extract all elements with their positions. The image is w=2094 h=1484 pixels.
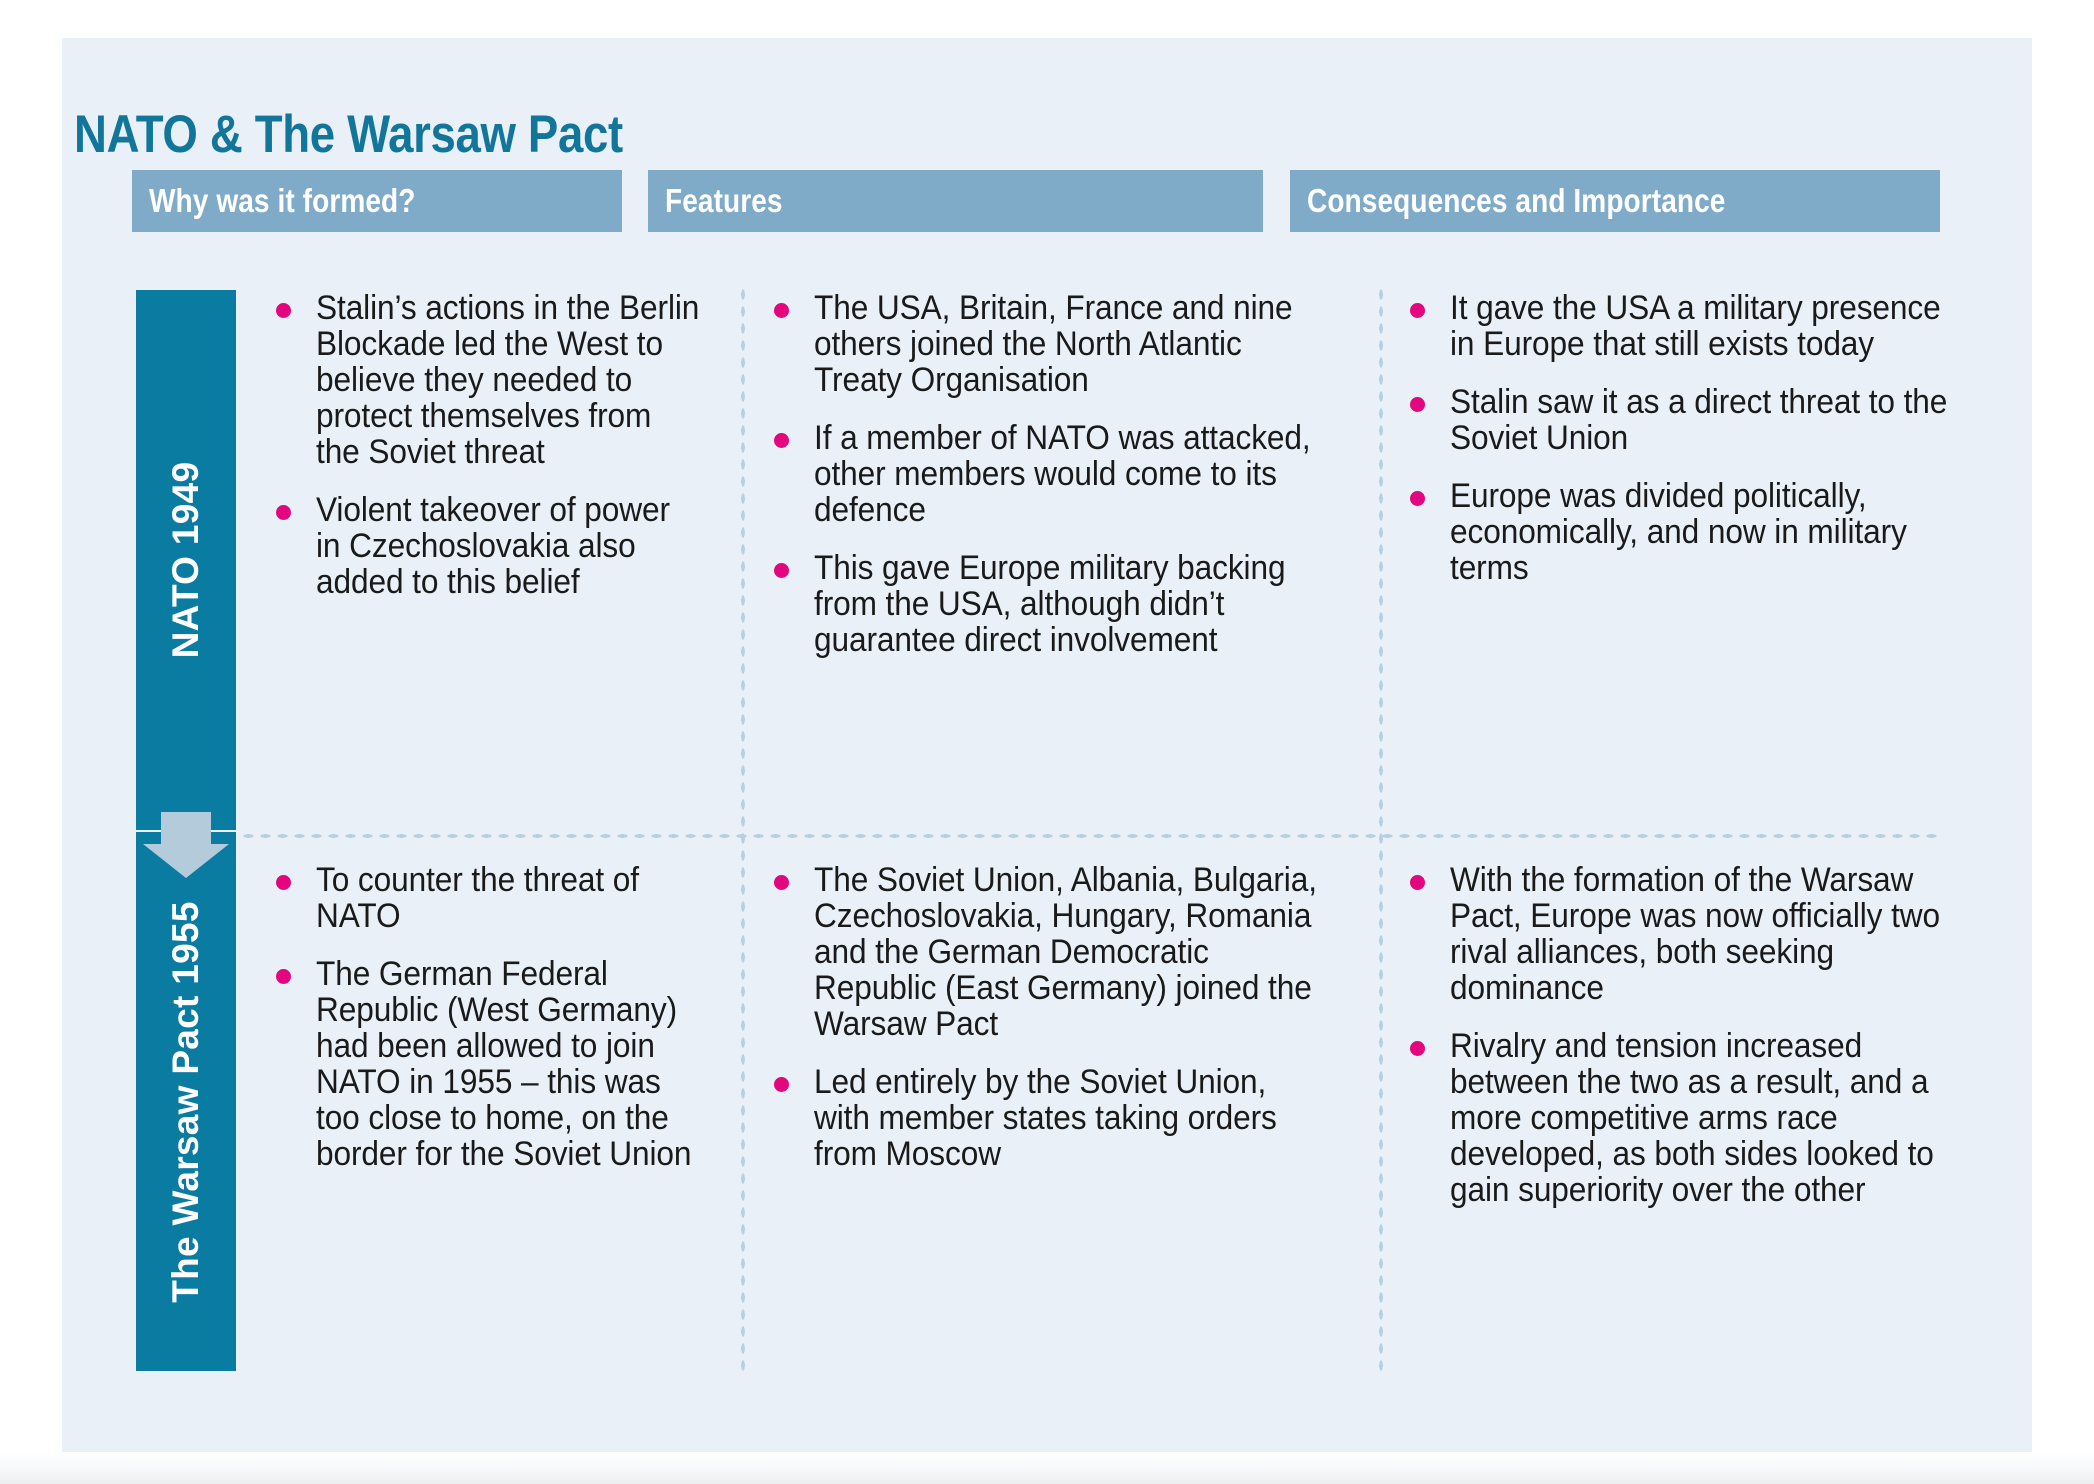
row-label-bar-warsaw-pact: The Warsaw Pact 1955 bbox=[136, 832, 236, 1371]
down-arrow-icon bbox=[136, 812, 236, 878]
bullet-text: To counter the threat of NATO bbox=[316, 862, 702, 934]
list-item: Rivalry and tension increased between th… bbox=[1406, 1028, 1966, 1208]
list-item: Stalin saw it as a direct threat to the … bbox=[1406, 384, 1966, 456]
column-header-label: Why was it formed? bbox=[132, 182, 415, 220]
bullet-text: Led entirely by the Soviet Union, with m… bbox=[814, 1064, 1330, 1172]
bullet-text: The German Federal Republic (West German… bbox=[316, 956, 702, 1172]
list-item: With the formation of the Warsaw Pact, E… bbox=[1406, 862, 1966, 1006]
list-item: Led entirely by the Soviet Union, with m… bbox=[770, 1064, 1330, 1172]
bullet-list: The USA, Britain, France and nine others… bbox=[770, 290, 1330, 658]
column-divider bbox=[740, 286, 746, 1371]
list-item: The German Federal Republic (West German… bbox=[272, 956, 702, 1172]
cell-nato-features: The USA, Britain, France and nine others… bbox=[770, 290, 1330, 658]
content-panel bbox=[62, 38, 2032, 1457]
list-item: To counter the threat of NATO bbox=[272, 862, 702, 934]
list-item: The USA, Britain, France and nine others… bbox=[770, 290, 1330, 398]
cell-nato-why-was-it-formed: Stalin’s actions in the Berlin Blockade … bbox=[272, 290, 702, 600]
column-header-consequences-and-importance: Consequences and Importance bbox=[1290, 170, 1940, 232]
column-divider bbox=[1378, 286, 1384, 1371]
column-header-label: Features bbox=[648, 182, 783, 220]
bullet-text: Violent takeover of power in Czechoslova… bbox=[316, 492, 702, 600]
infographic-page: NATO & The Warsaw Pact Why was it formed… bbox=[0, 0, 2094, 1484]
column-header-why-was-it-formed: Why was it formed? bbox=[132, 170, 622, 232]
column-header-features: Features bbox=[648, 170, 1263, 232]
bullet-text: With the formation of the Warsaw Pact, E… bbox=[1450, 862, 1966, 1006]
bullet-text: Europe was divided politically, economic… bbox=[1450, 478, 1966, 586]
list-item: It gave the USA a military presence in E… bbox=[1406, 290, 1966, 362]
page-title: NATO & The Warsaw Pact bbox=[74, 104, 623, 165]
cell-warsaw-pact-features: The Soviet Union, Albania, Bulgaria, Cze… bbox=[770, 862, 1330, 1172]
list-item: If a member of NATO was attacked, other … bbox=[770, 420, 1330, 528]
column-header-label: Consequences and Importance bbox=[1290, 182, 1725, 220]
bullet-text: Stalin saw it as a direct threat to the … bbox=[1450, 384, 1966, 456]
bullet-text: The Soviet Union, Albania, Bulgaria, Cze… bbox=[814, 862, 1330, 1042]
page-bottom-shadow bbox=[0, 1452, 2094, 1484]
bullet-text: This gave Europe military backing from t… bbox=[814, 550, 1330, 658]
cell-warsaw-pact-consequences-and-importance: With the formation of the Warsaw Pact, E… bbox=[1406, 862, 1966, 1208]
column-header-row: Why was it formed? Features Consequences… bbox=[132, 170, 1940, 232]
row-label-warsaw-pact: The Warsaw Pact 1955 bbox=[165, 901, 207, 1303]
list-item: Stalin’s actions in the Berlin Blockade … bbox=[272, 290, 702, 470]
bullet-list: It gave the USA a military presence in E… bbox=[1406, 290, 1966, 586]
cell-warsaw-pact-why-was-it-formed: To counter the threat of NATO The German… bbox=[272, 862, 702, 1172]
bullet-text: It gave the USA a military presence in E… bbox=[1450, 290, 1966, 362]
row-label-bar-nato: NATO 1949 bbox=[136, 290, 236, 830]
bullet-list: To counter the threat of NATO The German… bbox=[272, 862, 702, 1172]
row-divider bbox=[240, 833, 1940, 839]
bullet-text: The USA, Britain, France and nine others… bbox=[814, 290, 1330, 398]
list-item: Violent takeover of power in Czechoslova… bbox=[272, 492, 702, 600]
list-item: Europe was divided politically, economic… bbox=[1406, 478, 1966, 586]
row-label-nato: NATO 1949 bbox=[165, 462, 207, 659]
bullet-list: The Soviet Union, Albania, Bulgaria, Cze… bbox=[770, 862, 1330, 1172]
bullet-text: Stalin’s actions in the Berlin Blockade … bbox=[316, 290, 702, 470]
cell-nato-consequences-and-importance: It gave the USA a military presence in E… bbox=[1406, 290, 1966, 586]
bullet-text: Rivalry and tension increased between th… bbox=[1450, 1028, 1966, 1208]
bullet-text: If a member of NATO was attacked, other … bbox=[814, 420, 1330, 528]
list-item: This gave Europe military backing from t… bbox=[770, 550, 1330, 658]
list-item: The Soviet Union, Albania, Bulgaria, Cze… bbox=[770, 862, 1330, 1042]
bullet-list: With the formation of the Warsaw Pact, E… bbox=[1406, 862, 1966, 1208]
bullet-list: Stalin’s actions in the Berlin Blockade … bbox=[272, 290, 702, 600]
